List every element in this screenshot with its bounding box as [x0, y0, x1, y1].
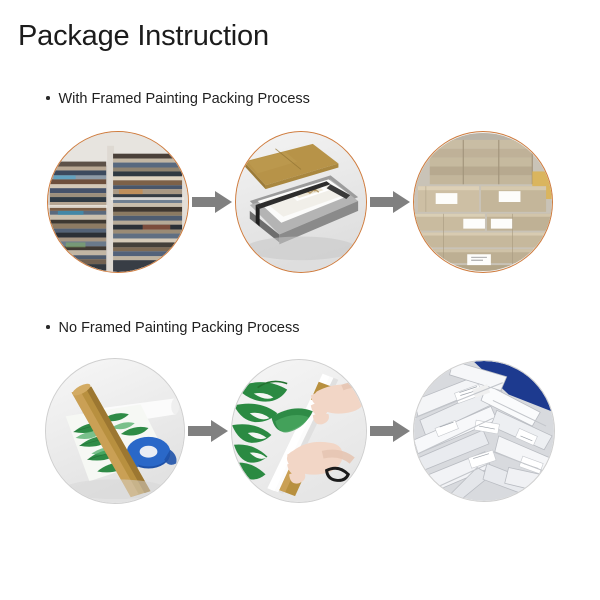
package-instruction-page: Package Instruction With Framed Painting…: [0, 0, 600, 600]
flow-arrow-framed-2: [367, 187, 413, 217]
section-heading-noframe-label: No Framed Painting Packing Process: [59, 320, 300, 336]
photo-framed-painting-boxing-image: [236, 132, 366, 272]
photo-rolled-canvas-rolling-image: [232, 360, 366, 502]
flow-step-roll-rolling: [231, 359, 367, 503]
photo-framed-painting-stock-image: [48, 132, 188, 272]
photo-framed-painting-stock: [47, 131, 189, 273]
flow-step-framed-cartons: [413, 131, 553, 273]
photo-rolled-canvas-bundles-image: [414, 361, 554, 501]
photo-rolled-canvas-bundles: [413, 360, 555, 502]
flow-step-framed-boxing: [235, 131, 367, 273]
section-heading-framed-label: With Framed Painting Packing Process: [59, 91, 310, 107]
photo-framed-painting-boxing: [235, 131, 367, 273]
bullet-dot-icon: [46, 96, 50, 100]
photo-framed-painting-cartons-image: [414, 132, 552, 272]
flow-step-roll-bundles: [413, 360, 555, 502]
flow-row-noframe: [0, 356, 600, 506]
flow-arrow-framed-1: [189, 187, 235, 217]
flow-step-roll-materials: [45, 358, 185, 504]
flow-arrow-noframe-1: [185, 416, 231, 446]
page-title: Package Instruction: [18, 20, 269, 53]
photo-rolled-canvas-materials-image: [46, 359, 184, 503]
section-heading-noframe: No Framed Painting Packing Process: [46, 320, 299, 336]
photo-framed-painting-cartons: [413, 131, 553, 273]
section-heading-framed: With Framed Painting Packing Process: [46, 91, 310, 107]
flow-row-framed: [0, 128, 600, 276]
photo-rolled-canvas-rolling: [231, 359, 367, 503]
bullet-dot-icon: [46, 325, 50, 329]
flow-arrow-noframe-2: [367, 416, 413, 446]
flow-step-framed-stock: [47, 131, 189, 273]
photo-rolled-canvas-materials: [45, 358, 185, 504]
